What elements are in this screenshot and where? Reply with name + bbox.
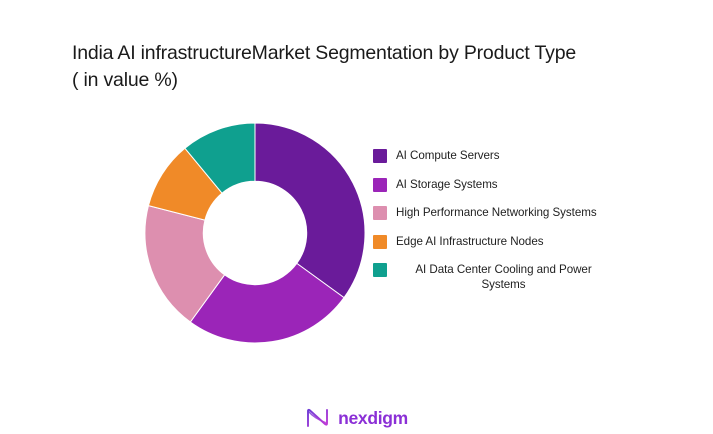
- legend-item-high-performance-networking-systems[interactable]: High Performance Networking Systems: [373, 205, 663, 220]
- brand-footer: nexdigm: [0, 402, 713, 434]
- brand-name: nexdigm: [338, 408, 408, 429]
- legend-item-ai-storage-systems[interactable]: AI Storage Systems: [373, 177, 663, 192]
- legend-item-ai-data-center-cooling-and-power-systems[interactable]: AI Data Center Cooling and Power Systems: [373, 262, 663, 292]
- donut-slice[interactable]: [255, 123, 365, 298]
- donut-chart: [145, 123, 365, 343]
- chart-plot-area: AI Compute Servers AI Storage Systems Hi…: [0, 0, 713, 434]
- donut-slice-group: [145, 123, 365, 343]
- legend-item-label: High Performance Networking Systems: [396, 205, 597, 220]
- legend-swatch-icon: [373, 178, 387, 192]
- legend-swatch-icon: [373, 235, 387, 249]
- legend-swatch-icon: [373, 149, 387, 163]
- chart-card: India AI infrastructureMarket Segmentati…: [0, 0, 713, 434]
- legend-swatch-icon: [373, 263, 387, 277]
- legend-item-label: Edge AI Infrastructure Nodes: [396, 234, 543, 249]
- legend-swatch-icon: [373, 206, 387, 220]
- legend-item-label: AI Storage Systems: [396, 177, 498, 192]
- chart-legend: AI Compute Servers AI Storage Systems Hi…: [373, 148, 663, 306]
- legend-item-label: AI Compute Servers: [396, 148, 499, 163]
- legend-item-label: AI Data Center Cooling and Power Systems: [396, 262, 611, 292]
- donut-svg: [145, 123, 365, 343]
- legend-item-edge-ai-infrastructure-nodes[interactable]: Edge AI Infrastructure Nodes: [373, 234, 663, 249]
- legend-item-ai-compute-servers[interactable]: AI Compute Servers: [373, 148, 663, 163]
- nexdigm-logo-icon: [305, 407, 331, 429]
